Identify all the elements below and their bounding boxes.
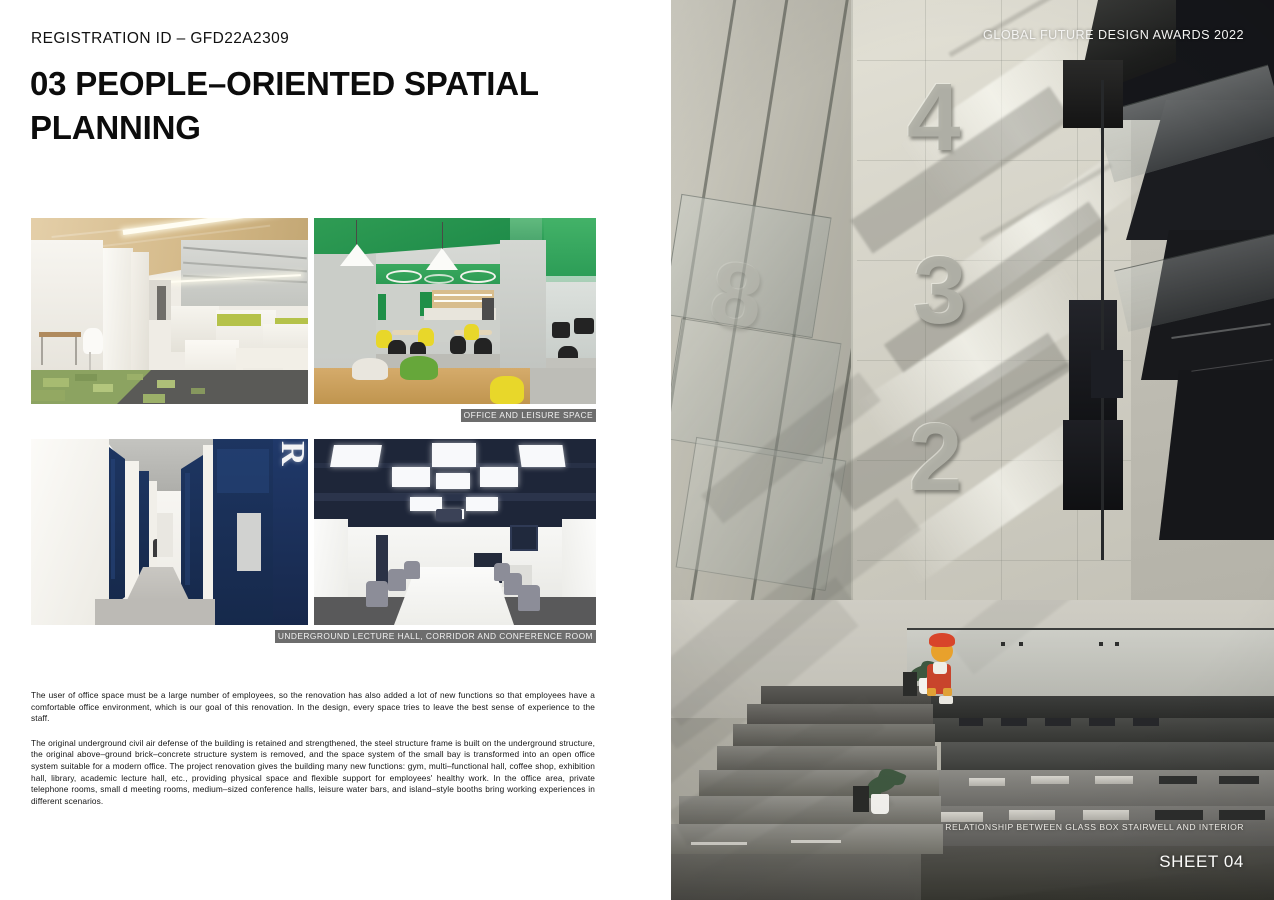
sheet-number: SHEET 04 — [1159, 852, 1244, 872]
floor-numeral-3: 3 — [913, 243, 966, 339]
floor-numeral-2: 2 — [909, 410, 962, 506]
top-caption-text: OFFICE AND LEISURE SPACE — [461, 409, 596, 422]
bottom-caption-text: UNDERGROUND LECTURE HALL, CORRIDOR AND C… — [275, 630, 596, 643]
image-row-top — [31, 218, 596, 404]
meeting-room-sign: MEETING R — [277, 441, 308, 625]
floor-numeral-4: 4 — [907, 70, 960, 166]
body-copy: The user of office space must be a large… — [31, 690, 595, 807]
office-corridor-photo — [31, 218, 308, 404]
page-title: 03 PEOPLE–ORIENTED SPATIAL PLANNING — [30, 62, 590, 150]
meeting-corridor-photo: MEETING R — [31, 439, 308, 625]
conference-room-photo — [314, 439, 596, 625]
registration-id: REGISTRATION ID – GFD22A2309 — [31, 30, 289, 48]
presentation-sheet: REGISTRATION ID – GFD22A2309 03 PEOPLE–O… — [0, 0, 1274, 900]
paragraph-1: The user of office space must be a large… — [31, 690, 595, 725]
top-caption-bar: OFFICE AND LEISURE SPACE — [31, 409, 596, 422]
image-row-bottom: MEETING R — [31, 439, 596, 625]
image-grid: OFFICE AND LEISURE SPACE — [31, 218, 596, 643]
bottom-caption-bar: UNDERGROUND LECTURE HALL, CORRIDOR AND C… — [31, 630, 596, 643]
left-content-column: REGISTRATION ID – GFD22A2309 03 PEOPLE–O… — [0, 0, 671, 900]
glass-box-stairwell-photo: 4 3 2 8 — [671, 0, 1274, 900]
hero-caption-text: RELATIONSHIP BETWEEN GLASS BOX STAIRWELL… — [945, 822, 1244, 832]
leisure-space-photo — [314, 218, 596, 404]
paragraph-2: The original underground civil air defen… — [31, 738, 595, 808]
award-header: GLOBAL FUTURE DESIGN AWARDS 2022 — [983, 28, 1244, 42]
